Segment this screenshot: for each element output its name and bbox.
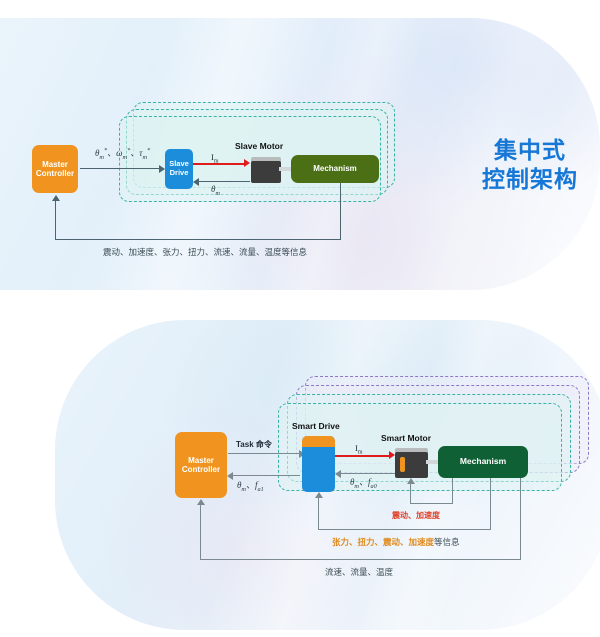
slave-drive-label: Slave Drive xyxy=(169,160,189,177)
slave-motor-caption: Slave Motor xyxy=(235,141,283,151)
motor-sensor-riser xyxy=(410,484,411,504)
task-command-label: Task 命令 xyxy=(236,439,272,450)
controller-sensor-arrowhead xyxy=(197,499,205,505)
slide-root: Master Controller θm*、ωm*、τm* Slave Driv… xyxy=(0,0,600,637)
master-controller-node[interactable]: Master Controller xyxy=(32,145,78,193)
controller-sensor-drop xyxy=(520,478,521,560)
feedback-line xyxy=(198,181,250,182)
task-command-line xyxy=(228,453,300,454)
drive-sensor-arrowhead xyxy=(315,492,323,498)
drive-feedback-line xyxy=(232,475,300,476)
drive-sensor-riser xyxy=(318,498,319,530)
mechanism-label: Mechanism xyxy=(460,457,506,467)
feedback-angle-label: θm xyxy=(211,184,220,197)
mechanism-label: Mechanism xyxy=(313,164,357,173)
command-signal-label: θm*、ωm*、τm* xyxy=(95,146,150,161)
drive-feedback-label: θm、fa1 xyxy=(237,478,264,493)
controller-sensor-label: 流速、流量、温度 xyxy=(325,566,393,578)
controller-sensor-horizontal xyxy=(200,559,521,560)
motor-sensor-horizontal xyxy=(410,503,453,504)
smart-drive-node[interactable] xyxy=(302,436,335,492)
sensor-bus-vertical xyxy=(340,183,341,240)
motor-feedback-arrowhead xyxy=(335,470,341,478)
drive-sensor-horizontal xyxy=(318,529,491,530)
current-line xyxy=(335,455,390,457)
current-line xyxy=(193,163,245,165)
motor-feedback-label: θm、fa0 xyxy=(350,475,377,490)
master-controller-label: Master Controller xyxy=(36,160,74,178)
feedback-arrowhead xyxy=(193,178,199,186)
mechanism-node[interactable]: Mechanism xyxy=(291,155,379,183)
slave-drive-node[interactable]: Slave Drive xyxy=(165,149,193,189)
smart-motor-caption: Smart Motor xyxy=(381,433,431,443)
controller-sensor-riser xyxy=(200,505,201,560)
motor-sensor-label: 震动、加速度 xyxy=(392,510,440,521)
master-controller-node[interactable]: Master Controller xyxy=(175,432,227,498)
mechanism-node[interactable]: Mechanism xyxy=(438,446,528,478)
drive-sensor-highlight: 张力、扭力、震动、加速度 xyxy=(332,537,434,547)
motor-sensor-arrowhead xyxy=(407,478,415,484)
command-line xyxy=(80,168,160,169)
current-arrowhead xyxy=(244,159,250,167)
drive-sensor-label: 张力、扭力、震动、加速度等信息 xyxy=(332,536,460,548)
sensor-bus-riser xyxy=(55,201,56,240)
current-label: Im xyxy=(211,152,218,165)
centralized-headline: 集中式 控制架构 xyxy=(482,136,578,194)
drive-sensor-drop xyxy=(490,478,491,530)
smart-motor-icon xyxy=(395,448,428,478)
sensor-bus-horizontal xyxy=(55,239,341,240)
sensor-bus-label: 震动、加速度、张力、扭力、流速、流量、温度等信息 xyxy=(103,246,307,258)
smart-drive-top-strip xyxy=(302,436,335,447)
drive-feedback-arrowhead xyxy=(227,472,233,480)
slave-motor-icon xyxy=(251,157,281,183)
current-label: Im xyxy=(355,443,362,456)
distributed-architecture-panel: Master Controller Task 命令 θm、fa1 Smart D… xyxy=(0,320,600,630)
master-controller-label: Master Controller xyxy=(182,456,220,474)
drive-sensor-suffix: 等信息 xyxy=(434,537,460,547)
centralized-architecture-panel: Master Controller θm*、ωm*、τm* Slave Driv… xyxy=(0,18,600,290)
smart-drive-caption: Smart Drive xyxy=(292,421,340,431)
motor-sensor-drop xyxy=(452,478,453,504)
sensor-bus-arrowhead xyxy=(52,195,60,201)
